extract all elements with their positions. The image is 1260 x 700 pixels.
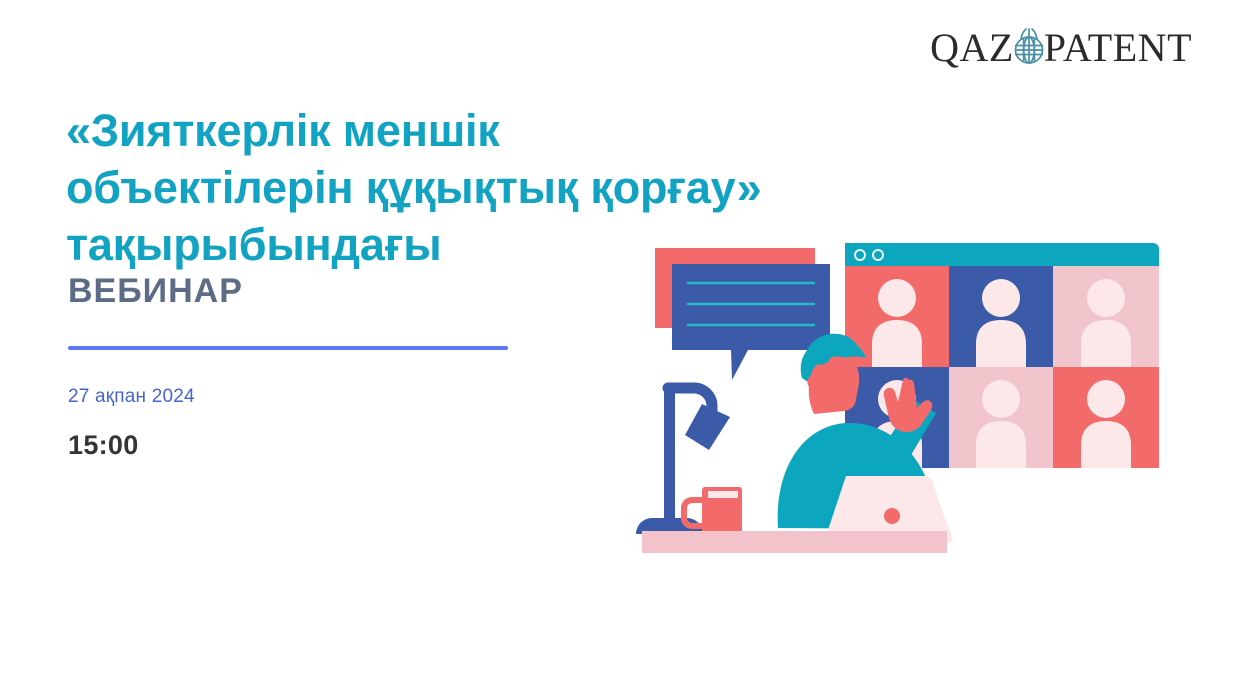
event-type-label: ВЕБИНАР bbox=[68, 272, 243, 311]
video-tile bbox=[1053, 266, 1159, 367]
video-tile bbox=[949, 266, 1053, 367]
qazpatent-logo: QAZ PATENT bbox=[930, 26, 1192, 70]
event-time: 15:00 bbox=[68, 430, 139, 461]
video-tile bbox=[1053, 367, 1159, 468]
coffee-mug bbox=[684, 487, 742, 535]
section-divider bbox=[68, 346, 508, 350]
desk-surface bbox=[642, 531, 947, 553]
video-tile bbox=[949, 367, 1053, 468]
globe-icon bbox=[1007, 25, 1051, 69]
title-line-2: объектілерін құқықтық қорғау» bbox=[66, 159, 966, 216]
window-titlebar bbox=[845, 243, 1159, 266]
event-date: 27 ақпан 2024 bbox=[68, 386, 195, 408]
title-line-1: «Зияткерлік меншік bbox=[66, 102, 966, 159]
video-conference-illustration bbox=[630, 228, 1190, 568]
logo-text-left: QAZ bbox=[930, 28, 1014, 68]
laptop-logo-dot bbox=[884, 508, 900, 524]
logo-text-right: PATENT bbox=[1044, 28, 1192, 68]
